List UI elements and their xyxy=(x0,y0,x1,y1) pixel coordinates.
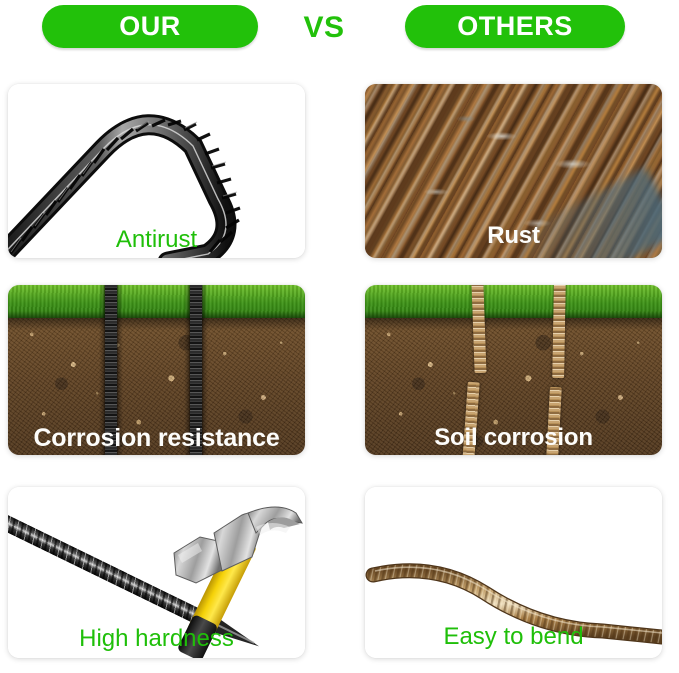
comparison-header: OUR VS OTHERS xyxy=(0,0,679,56)
our-pill-label: OUR xyxy=(119,11,181,42)
soil-corrosion-scene: Soil corrosion xyxy=(365,285,662,455)
rust-scene: Rust xyxy=(365,84,662,258)
caption-antirust: Antirust xyxy=(8,226,305,254)
easy-to-bend-scene: Easy to bend xyxy=(365,487,662,658)
caption-high-hardness: High hardness xyxy=(8,625,305,653)
our-pill: OUR xyxy=(42,5,258,48)
others-pill-label: OTHERS xyxy=(457,11,573,42)
rusty-stake-right-upper xyxy=(552,285,566,378)
antirust-scene: Antirust xyxy=(8,84,305,258)
others-pill: OTHERS xyxy=(405,5,625,48)
card-our-antirust: Antirust xyxy=(8,84,305,258)
card-our-high-hardness: High hardness xyxy=(8,487,305,658)
card-others-rust: Rust xyxy=(365,84,662,258)
corrosion-resistance-scene: Corrosion resistance xyxy=(8,285,305,455)
comparison-infographic: OUR VS OTHERS xyxy=(0,0,679,673)
card-others-easy-to-bend: Easy to bend xyxy=(365,487,662,658)
card-others-soil-corrosion: Soil corrosion xyxy=(365,285,662,455)
vs-label-wrap: VS xyxy=(298,8,350,48)
caption-rust: Rust xyxy=(365,222,662,250)
soil-top-shadow xyxy=(8,318,305,330)
grass-icon xyxy=(365,285,662,318)
soil-top-shadow xyxy=(365,318,662,330)
high-hardness-scene: High hardness xyxy=(8,487,305,658)
vs-label: VS xyxy=(303,11,344,45)
caption-easy-to-bend: Easy to bend xyxy=(365,623,662,651)
grass-icon xyxy=(8,285,305,318)
caption-corrosion-resistance: Corrosion resistance xyxy=(8,424,305,453)
caption-soil-corrosion: Soil corrosion xyxy=(365,424,662,452)
card-our-corrosion-resistance: Corrosion resistance xyxy=(8,285,305,455)
